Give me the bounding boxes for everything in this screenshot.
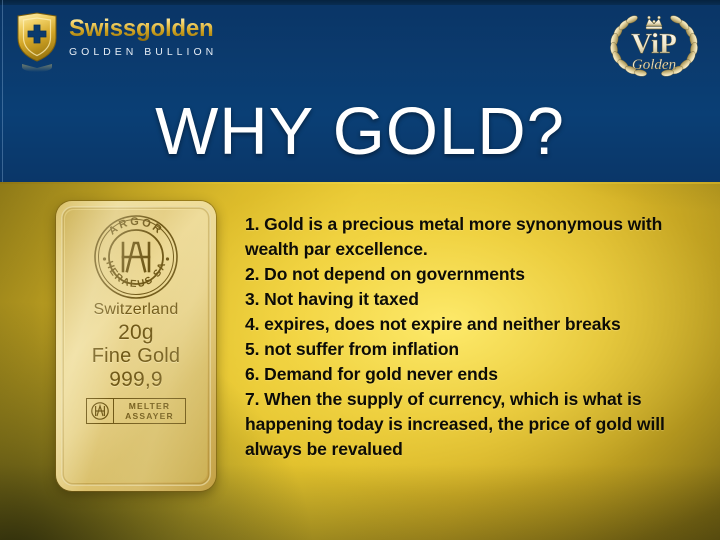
vip-secondary-text: Golden (632, 57, 676, 73)
list-item: 7. When the supply of currency, which is… (245, 387, 665, 462)
gold-bar-fineness-label: Fine Gold (65, 346, 207, 367)
page-title: WHY GOLD? (0, 96, 720, 168)
brand-name: Swissgolden (69, 16, 217, 42)
list-item: 3. Not having it taxed (245, 287, 665, 312)
gold-bar-country: Switzerland (65, 302, 207, 319)
reasons-list: 1. Gold is a precious metal more synonym… (245, 212, 665, 462)
list-item: 4. expires, does not expire and neither … (245, 312, 665, 337)
list-item: 6. Demand for gold never ends (245, 362, 665, 387)
header-gold-rule (0, 182, 720, 184)
vip-primary-text: ViP (631, 28, 677, 60)
argor-heraeus-logo-icon: ARGOR HERAEUS SA (93, 214, 179, 300)
assay-stamp-line2: ASSAYER (114, 411, 185, 421)
header-top-strip (0, 0, 720, 5)
svg-text:ARGOR: ARGOR (107, 216, 166, 237)
gold-bar-image: ARGOR HERAEUS SA Switzerl (56, 201, 216, 491)
gold-bar-engravings: ARGOR HERAEUS SA Switzerl (65, 210, 207, 482)
gold-bar-purity: 999,9 (65, 369, 207, 391)
brand-text-block: Swissgolden GOLDEN BULLION (69, 12, 217, 59)
list-item: 5. not suffer from inflation (245, 337, 665, 362)
assay-stamp-text: MELTER ASSAYER (114, 401, 185, 421)
swiss-cross-shield-icon (14, 12, 60, 74)
brand-logo: Swissgolden GOLDEN BULLION (14, 12, 217, 74)
assay-stamp-line1: MELTER (114, 401, 185, 411)
list-item: 1. Gold is a precious metal more synonym… (245, 212, 665, 262)
gold-bar-weight: 20g (65, 322, 207, 344)
ah-monogram-icon (87, 399, 114, 423)
svg-text:HERAEUS SA: HERAEUS SA (103, 260, 168, 290)
vip-golden-badge: ViP Golden (602, 6, 706, 82)
slide-canvas: Swissgolden GOLDEN BULLION (0, 0, 720, 540)
brand-tagline: GOLDEN BULLION (69, 45, 217, 59)
assay-stamp: MELTER ASSAYER (86, 398, 186, 424)
list-item: 2. Do not depend on governments (245, 262, 665, 287)
